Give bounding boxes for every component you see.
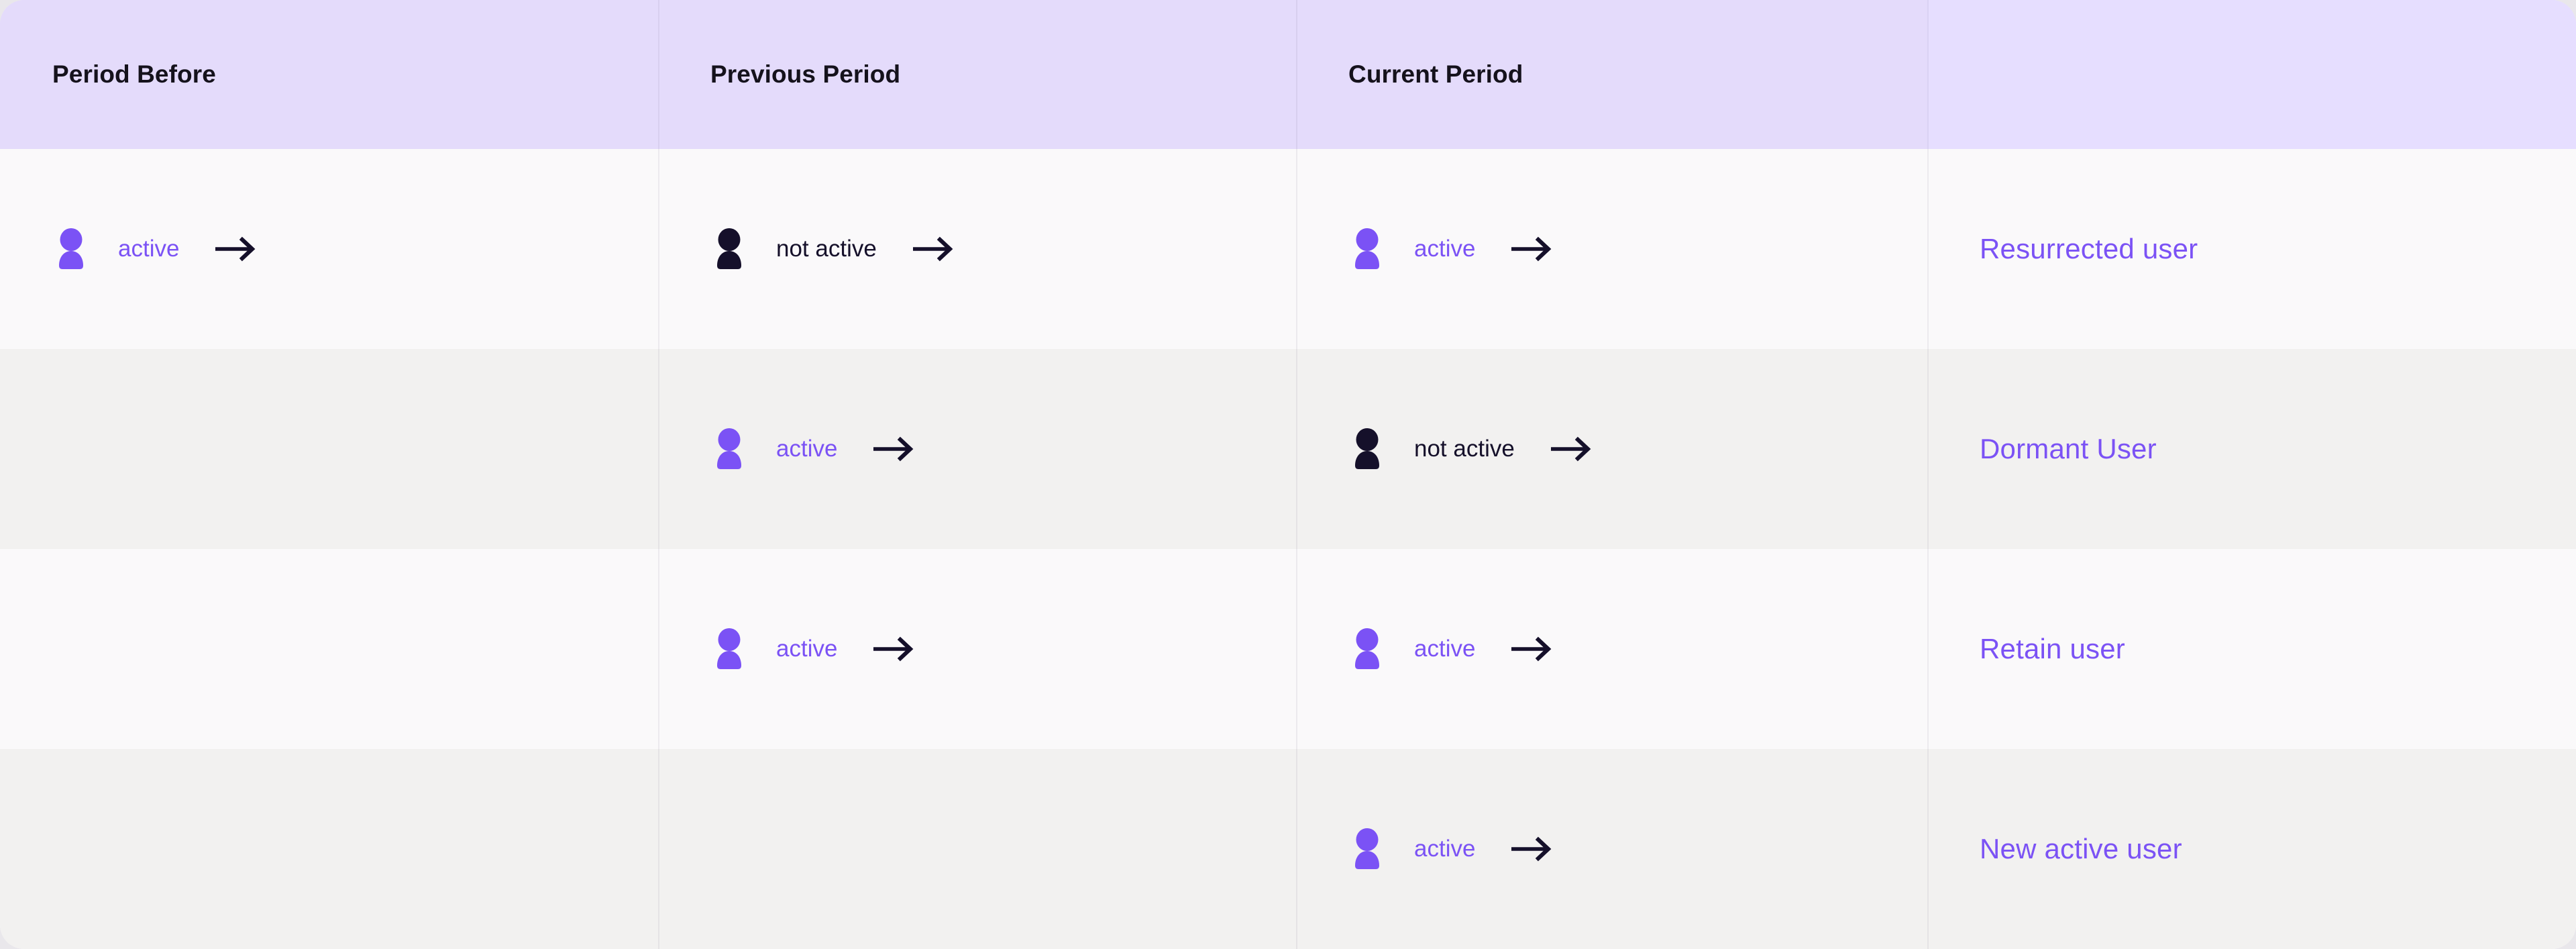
table-row: activenot activeDormant User <box>0 349 2576 549</box>
outcome-label: Dormant User <box>1980 433 2157 465</box>
state-group-period-before: active <box>52 228 257 270</box>
cell-previous-period: not active <box>658 149 1296 349</box>
cell-period-before-empty <box>0 549 658 749</box>
cell-current-period: not active <box>1296 349 1927 549</box>
outcome-label: Resurrected user <box>1980 233 2198 265</box>
state-label-current-period: active <box>1414 236 1475 262</box>
header-label-previous-period: Previous Period <box>710 60 900 89</box>
arrow-right-icon <box>214 236 257 262</box>
state-label-current-period: not active <box>1414 436 1515 462</box>
arrow-right-icon <box>912 236 955 262</box>
header-cell-previous-period: Previous Period <box>658 0 1296 149</box>
state-group-current-period: active <box>1348 228 1553 270</box>
state-label-current-period: active <box>1414 836 1475 862</box>
arrow-right-icon <box>1550 436 1593 462</box>
arrow-right-icon <box>1510 836 1553 862</box>
user-icon <box>710 428 748 470</box>
header-cell-period-before: Period Before <box>0 0 658 149</box>
cell-outcome: Retain user <box>1927 549 2576 749</box>
table-body: activenot activeactiveResurrected userac… <box>0 149 2576 949</box>
cell-current-period: active <box>1296 549 1927 749</box>
cell-current-period: active <box>1296 749 1927 949</box>
user-icon <box>1348 428 1386 470</box>
header-cell-outcome <box>1927 0 2576 149</box>
cell-previous-period: active <box>658 549 1296 749</box>
state-group-current-period: not active <box>1348 428 1593 470</box>
cell-period-before: active <box>0 149 658 349</box>
table-row: activeNew active user <box>0 749 2576 949</box>
cell-period-before-empty <box>0 349 658 549</box>
cell-outcome: Resurrected user <box>1927 149 2576 349</box>
header-label-period-before: Period Before <box>52 60 216 89</box>
arrow-right-icon <box>872 636 915 662</box>
arrow-right-icon <box>1510 236 1553 262</box>
cell-previous-period-empty <box>658 749 1296 949</box>
user-lifecycle-matrix-card: Period Before Previous Period Current Pe… <box>0 0 2576 949</box>
user-icon <box>710 628 748 670</box>
table-header-row: Period Before Previous Period Current Pe… <box>0 0 2576 149</box>
arrow-right-icon <box>1510 636 1553 662</box>
cell-previous-period: active <box>658 349 1296 549</box>
cell-outcome: New active user <box>1927 749 2576 949</box>
state-label-previous-period: active <box>776 436 837 462</box>
user-icon <box>1348 828 1386 870</box>
state-group-previous-period: not active <box>710 228 955 270</box>
cell-current-period: active <box>1296 149 1927 349</box>
state-group-current-period: active <box>1348 628 1553 670</box>
state-label-current-period: active <box>1414 636 1475 662</box>
user-icon <box>1348 228 1386 270</box>
outcome-label: Retain user <box>1980 633 2125 665</box>
cell-outcome: Dormant User <box>1927 349 2576 549</box>
user-icon <box>1348 628 1386 670</box>
header-cell-current-period: Current Period <box>1296 0 1927 149</box>
state-group-previous-period: active <box>710 428 915 470</box>
table-row: activenot activeactiveResurrected user <box>0 149 2576 349</box>
state-label-previous-period: active <box>776 636 837 662</box>
state-group-current-period: active <box>1348 828 1553 870</box>
user-icon <box>710 228 748 270</box>
state-label-period-before: active <box>118 236 179 262</box>
table-row: activeactiveRetain user <box>0 549 2576 749</box>
outcome-label: New active user <box>1980 833 2182 865</box>
user-icon <box>52 228 90 270</box>
state-group-previous-period: active <box>710 628 915 670</box>
header-label-current-period: Current Period <box>1348 60 1523 89</box>
cell-period-before-empty <box>0 749 658 949</box>
arrow-right-icon <box>872 436 915 462</box>
state-label-previous-period: not active <box>776 236 877 262</box>
